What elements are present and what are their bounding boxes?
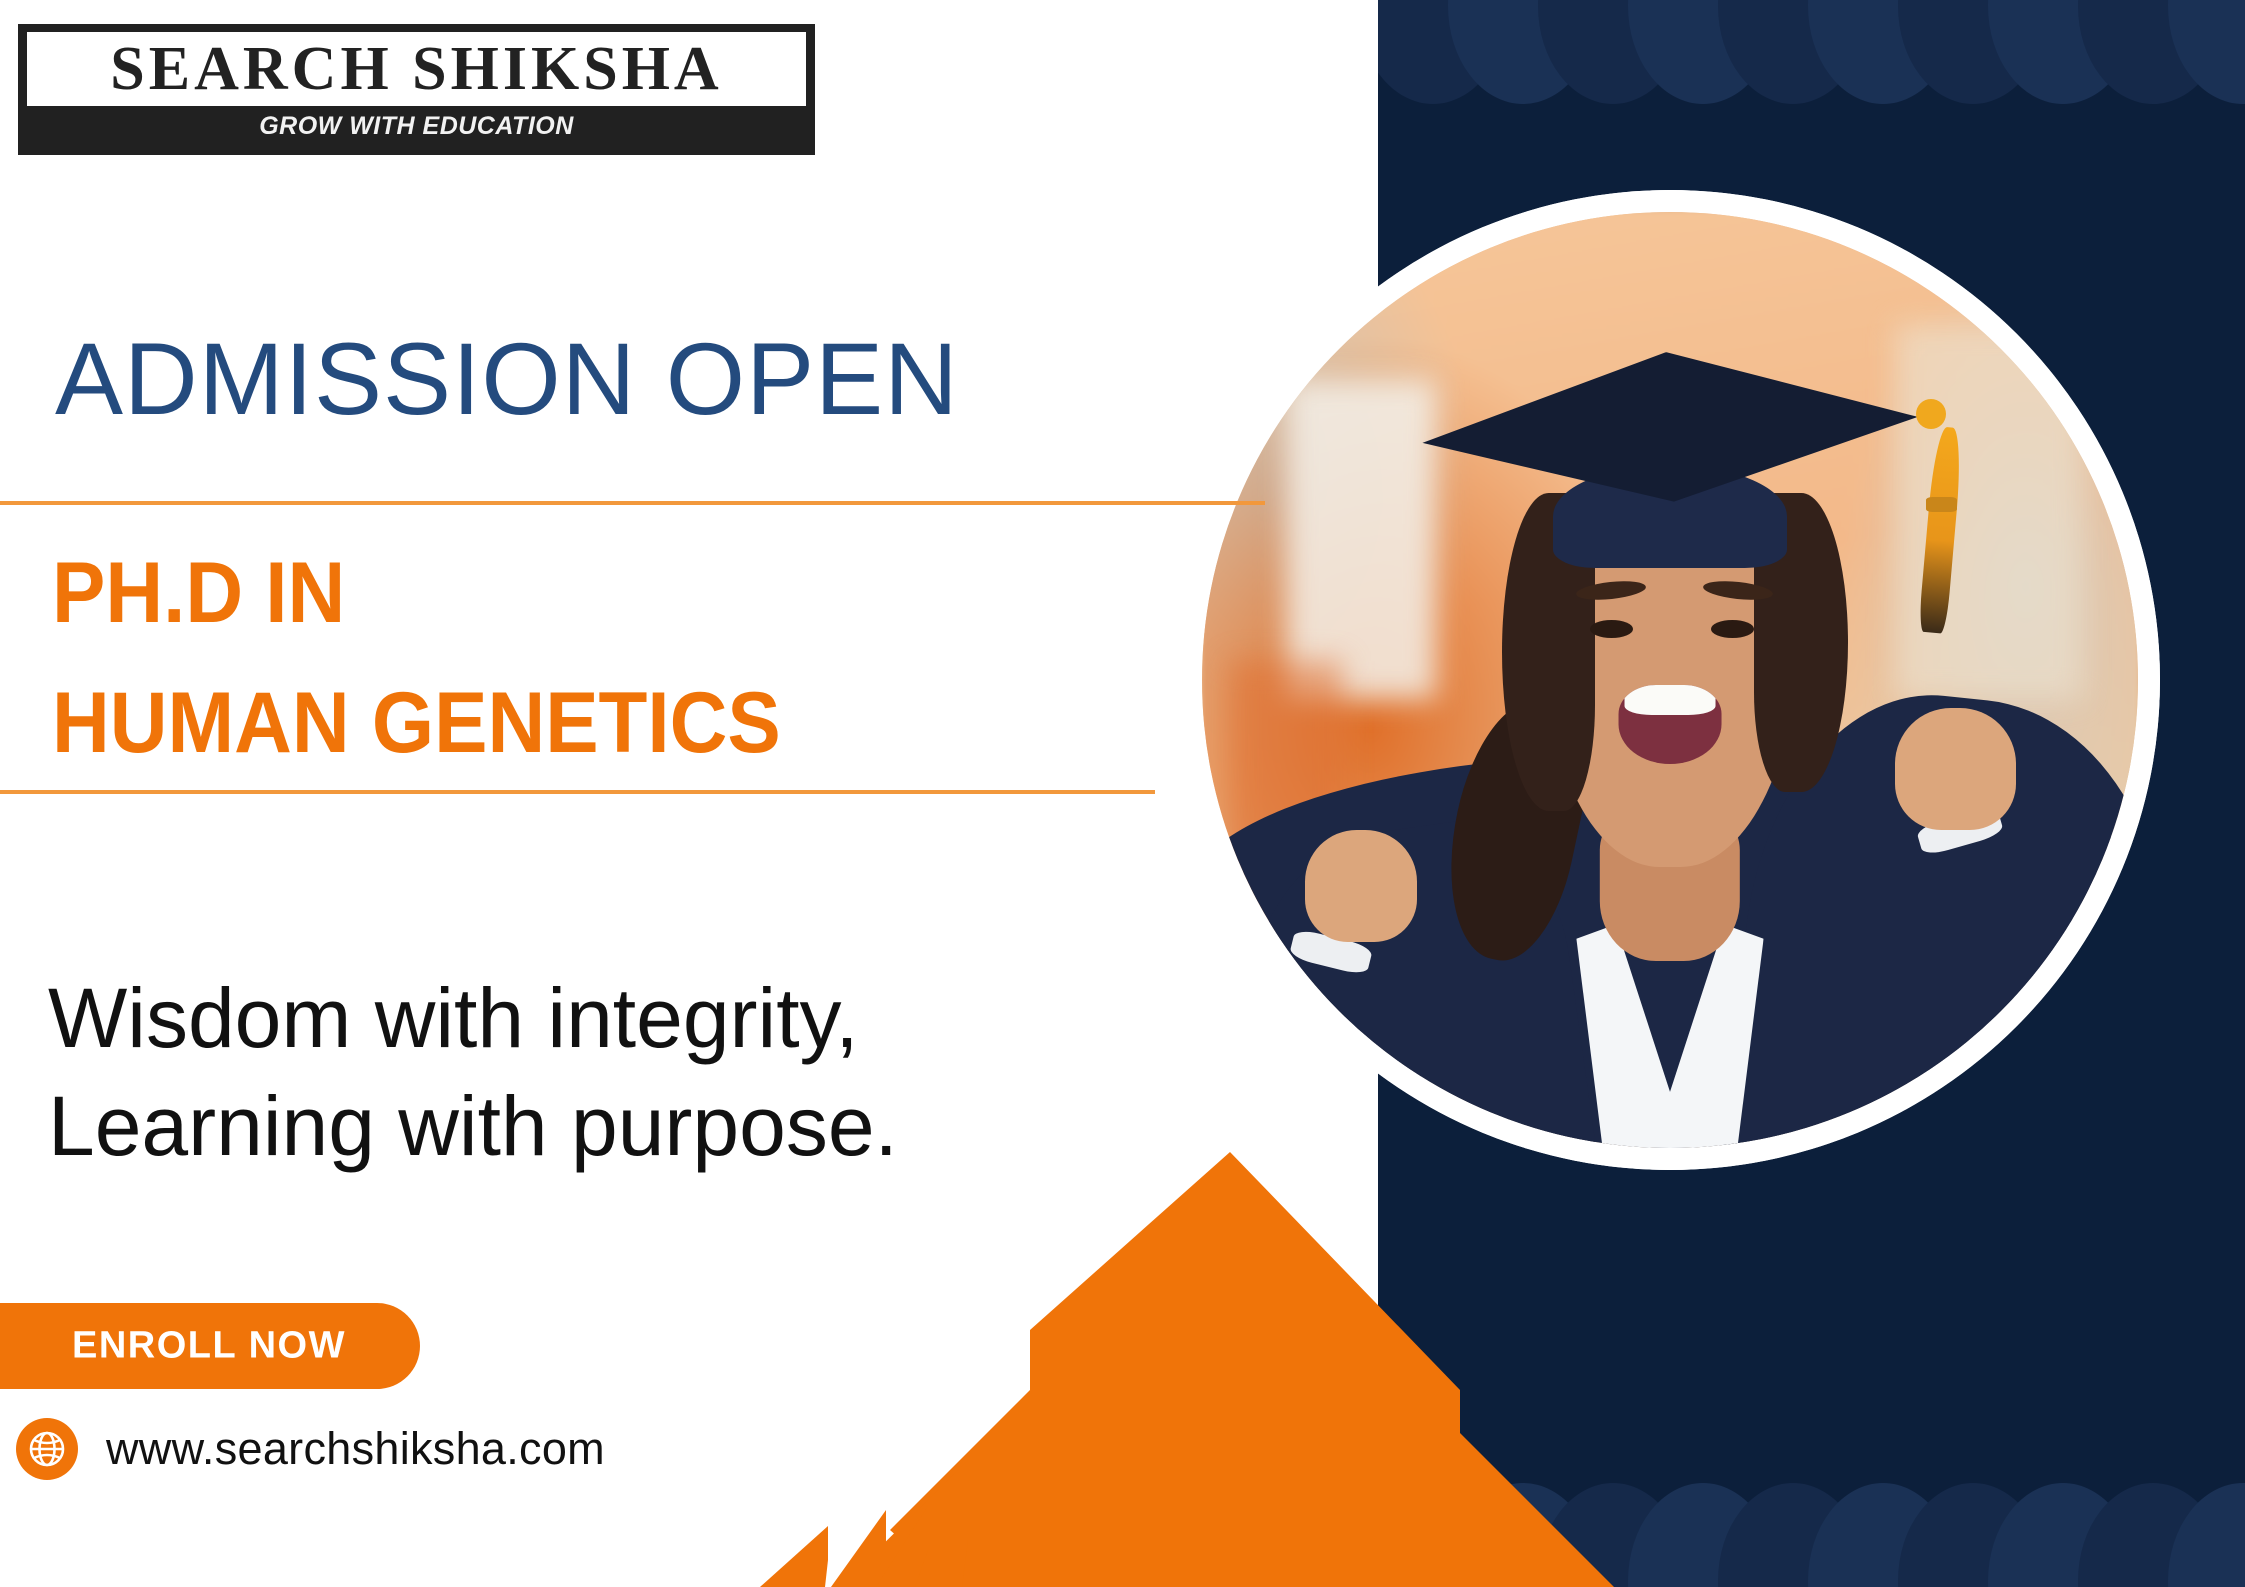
petal-pattern-top <box>1378 0 2245 108</box>
fist-right <box>1895 708 2017 830</box>
graduate-photo <box>1180 190 2160 1170</box>
photo-bokeh <box>1895 324 2082 698</box>
photo-image <box>1202 212 2138 1148</box>
logo-name: SEARCH SHIKSHA <box>110 34 722 105</box>
fist-left <box>1305 830 1417 942</box>
poster-canvas: SEARCH SHIKSHA GROW WITH EDUCATION ADMIS… <box>0 0 2245 1587</box>
page-title: ADMISSION OPEN <box>55 328 959 430</box>
tassel-band <box>1926 497 1958 512</box>
logo-name-box: SEARCH SHIKSHA <box>27 32 806 106</box>
photo-bokeh <box>1286 380 1436 698</box>
brand-logo: SEARCH SHIKSHA GROW WITH EDUCATION <box>18 24 815 155</box>
mouth <box>1619 685 1722 765</box>
divider-bottom <box>0 790 1155 794</box>
enroll-now-label: ENROLL NOW <box>0 1325 420 1368</box>
eye-left <box>1590 620 1633 638</box>
eye-right <box>1711 620 1754 638</box>
course-line-1: PH.D IN <box>52 550 345 636</box>
logo-tagline: GROW WITH EDUCATION <box>18 112 815 141</box>
website-url[interactable]: www.searchshiksha.com <box>106 1423 605 1475</box>
tagline-text: Wisdom with integrity, Learning with pur… <box>48 965 898 1180</box>
teeth <box>1625 685 1716 715</box>
enroll-now-button[interactable]: ENROLL NOW <box>0 1303 420 1389</box>
magnifier-handle-icon <box>700 1140 1460 1587</box>
globe-icon <box>16 1418 78 1480</box>
website-row[interactable]: www.searchshiksha.com <box>16 1418 605 1480</box>
course-line-2: HUMAN GENETICS <box>52 680 781 766</box>
divider-top <box>0 501 1265 505</box>
